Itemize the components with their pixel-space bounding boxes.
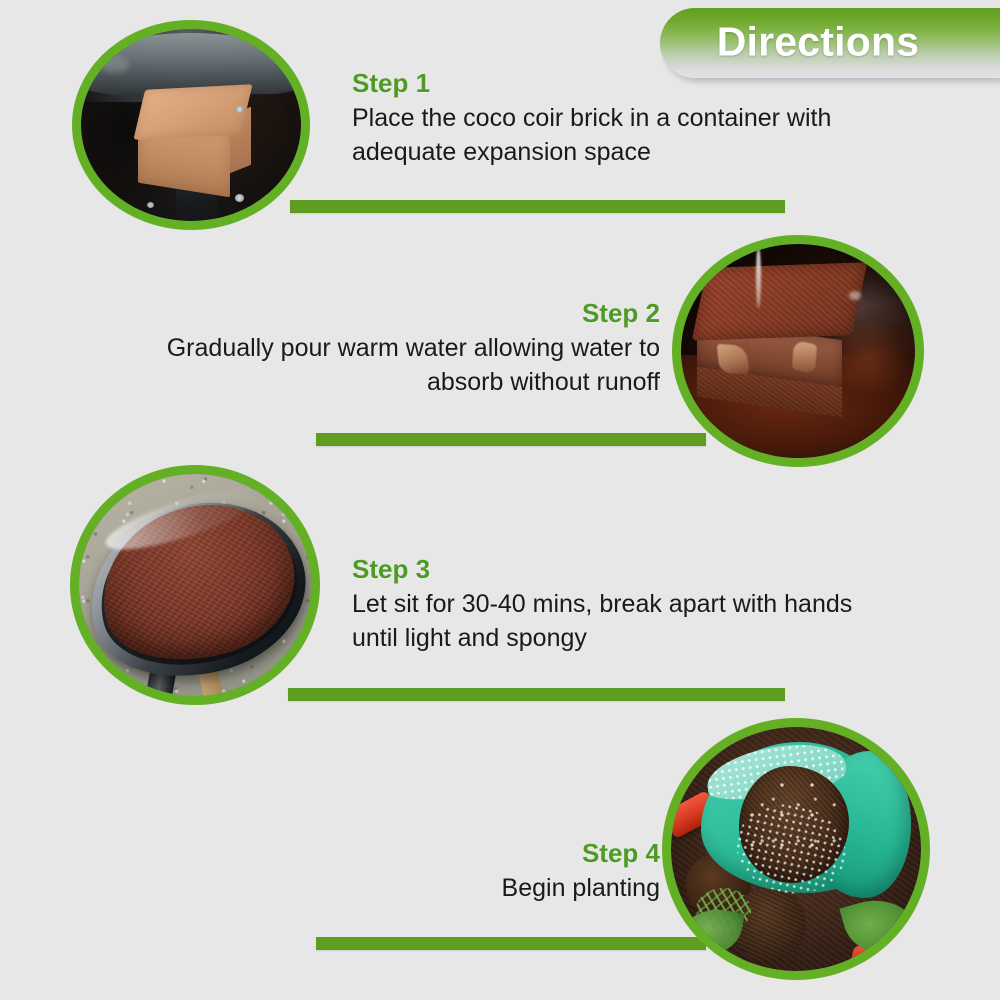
step-2-description: Gradually pour warm water allowing water…	[120, 332, 660, 399]
gloved-hands-planting-soil-photo	[671, 727, 921, 971]
step-2-photo-circle	[672, 235, 924, 467]
infographic-canvas: Directions Step 1 Place the coco coi	[0, 0, 1000, 1000]
pouring-warm-water-on-coir-brick-photo	[681, 244, 915, 458]
coco-coir-brick-in-black-container-photo	[81, 29, 301, 221]
step-1-label: Step 1	[352, 70, 892, 97]
step-4-photo-circle	[662, 718, 930, 980]
step-2-label: Step 2	[120, 300, 660, 327]
step-2-underline-bar	[316, 433, 706, 446]
step-4-underline-bar	[316, 937, 706, 950]
banner-title: Directions	[660, 19, 976, 66]
step-4-description: Begin planting	[120, 872, 660, 905]
coir-brick-top	[134, 84, 253, 139]
wet-brick-top	[691, 263, 867, 341]
step-3-underline-bar	[288, 688, 785, 701]
tray-bolt	[235, 194, 244, 202]
step-1-underline-bar	[290, 200, 785, 213]
step-3-label: Step 3	[352, 556, 892, 583]
water-stream	[756, 248, 761, 308]
step-2-text: Step 2 Gradually pour warm water allowin…	[120, 300, 660, 399]
step-1-description: Place the coco coir brick in a container…	[352, 102, 892, 169]
step-1-text: Step 1 Place the coco coir brick in a co…	[352, 70, 892, 169]
expanded-coir-in-wheelbarrow-photo	[79, 474, 311, 696]
water-droplet-highlight	[849, 291, 861, 300]
step-3-photo-circle	[70, 465, 320, 705]
step-3-text: Step 3 Let sit for 30-40 mins, break apa…	[352, 556, 892, 655]
step-1-photo-circle	[72, 20, 310, 230]
step-3-description: Let sit for 30-40 mins, break apart with…	[352, 588, 892, 655]
step-4-text: Step 4 Begin planting	[120, 840, 660, 906]
step-4-label: Step 4	[120, 840, 660, 867]
directions-banner: Directions	[660, 8, 1000, 78]
